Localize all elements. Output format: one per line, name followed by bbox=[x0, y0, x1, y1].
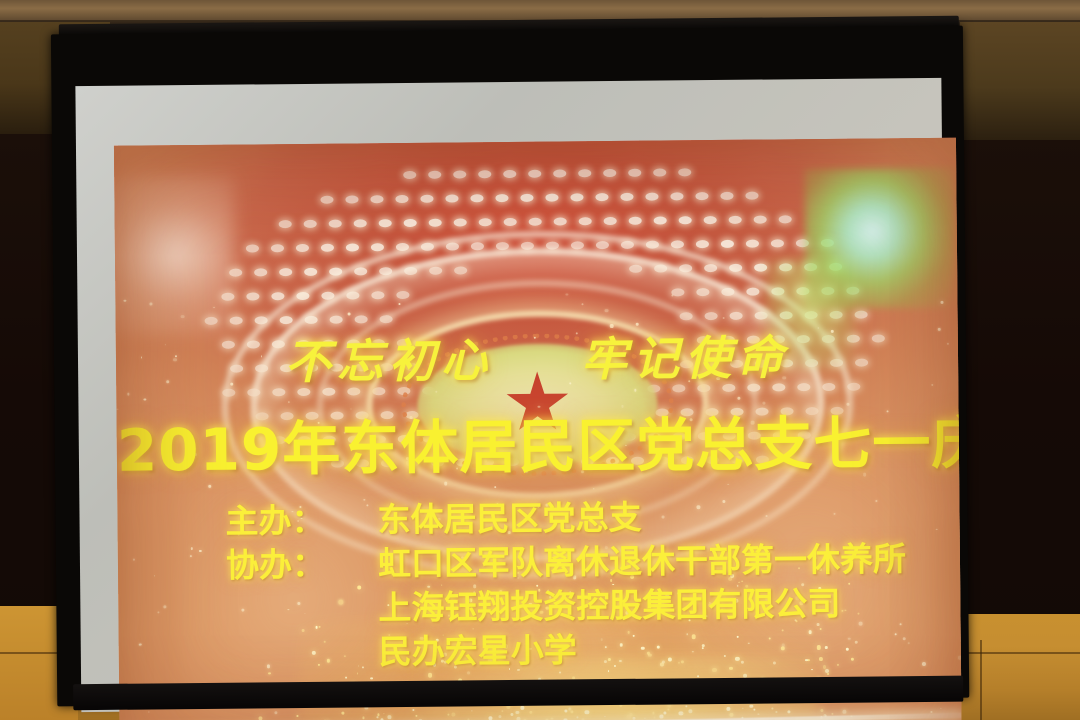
credit-value-coorganizer-2: 上海钰翔投资控股集团有限公司 bbox=[378, 577, 840, 629]
slide-credits: 主办： 东体居民区党总支 协办： 虹口区军队离休退休干部第一休养所 上海钰翔投资… bbox=[225, 487, 961, 670]
conference-room-scene: 不忘初心 牢记使命 2019年东体居民区党总支七一庆典 主办： 东体居民区党总支… bbox=[0, 0, 1080, 720]
credit-value-organizer: 东体居民区党总支 bbox=[377, 491, 641, 542]
wood-seam-vertical bbox=[980, 640, 982, 720]
screen-frame: 不忘初心 牢记使命 2019年东体居民区党总支七一庆典 主办： 东体居民区党总支… bbox=[51, 26, 969, 707]
credit-label-coorganizer: 协办： bbox=[226, 537, 378, 586]
credit-value-coorganizer-3: 民办宏星小学 bbox=[379, 623, 577, 673]
slide-text-block: 不忘初心 牢记使命 2019年东体居民区党总支七一庆典 主办： 东体居民区党总支… bbox=[114, 138, 962, 720]
projected-slide: 不忘初心 牢记使命 2019年东体居民区党总支七一庆典 主办： 东体居民区党总支… bbox=[114, 138, 962, 720]
credit-row: 主办： 东体居民区党总支 bbox=[225, 487, 961, 538]
credit-label-blank bbox=[227, 619, 379, 620]
projector-screen: 不忘初心 牢记使命 2019年东体居民区党总支七一庆典 主办： 东体居民区党总支… bbox=[51, 0, 970, 714]
credit-row: 协办： 虹口区军队离休退休干部第一休养所 bbox=[226, 531, 962, 582]
slide-title: 2019年东体居民区党总支七一庆典 bbox=[116, 396, 959, 488]
slide-motto: 不忘初心 牢记使命 bbox=[116, 320, 959, 394]
credit-label-blank bbox=[227, 663, 379, 664]
screen-fabric: 不忘初心 牢记使命 2019年东体居民区党总支七一庆典 主办： 东体居民区党总支… bbox=[75, 78, 947, 712]
credit-label-organizer: 主办： bbox=[225, 493, 377, 542]
upper-right-wall-panel bbox=[960, 22, 1080, 140]
